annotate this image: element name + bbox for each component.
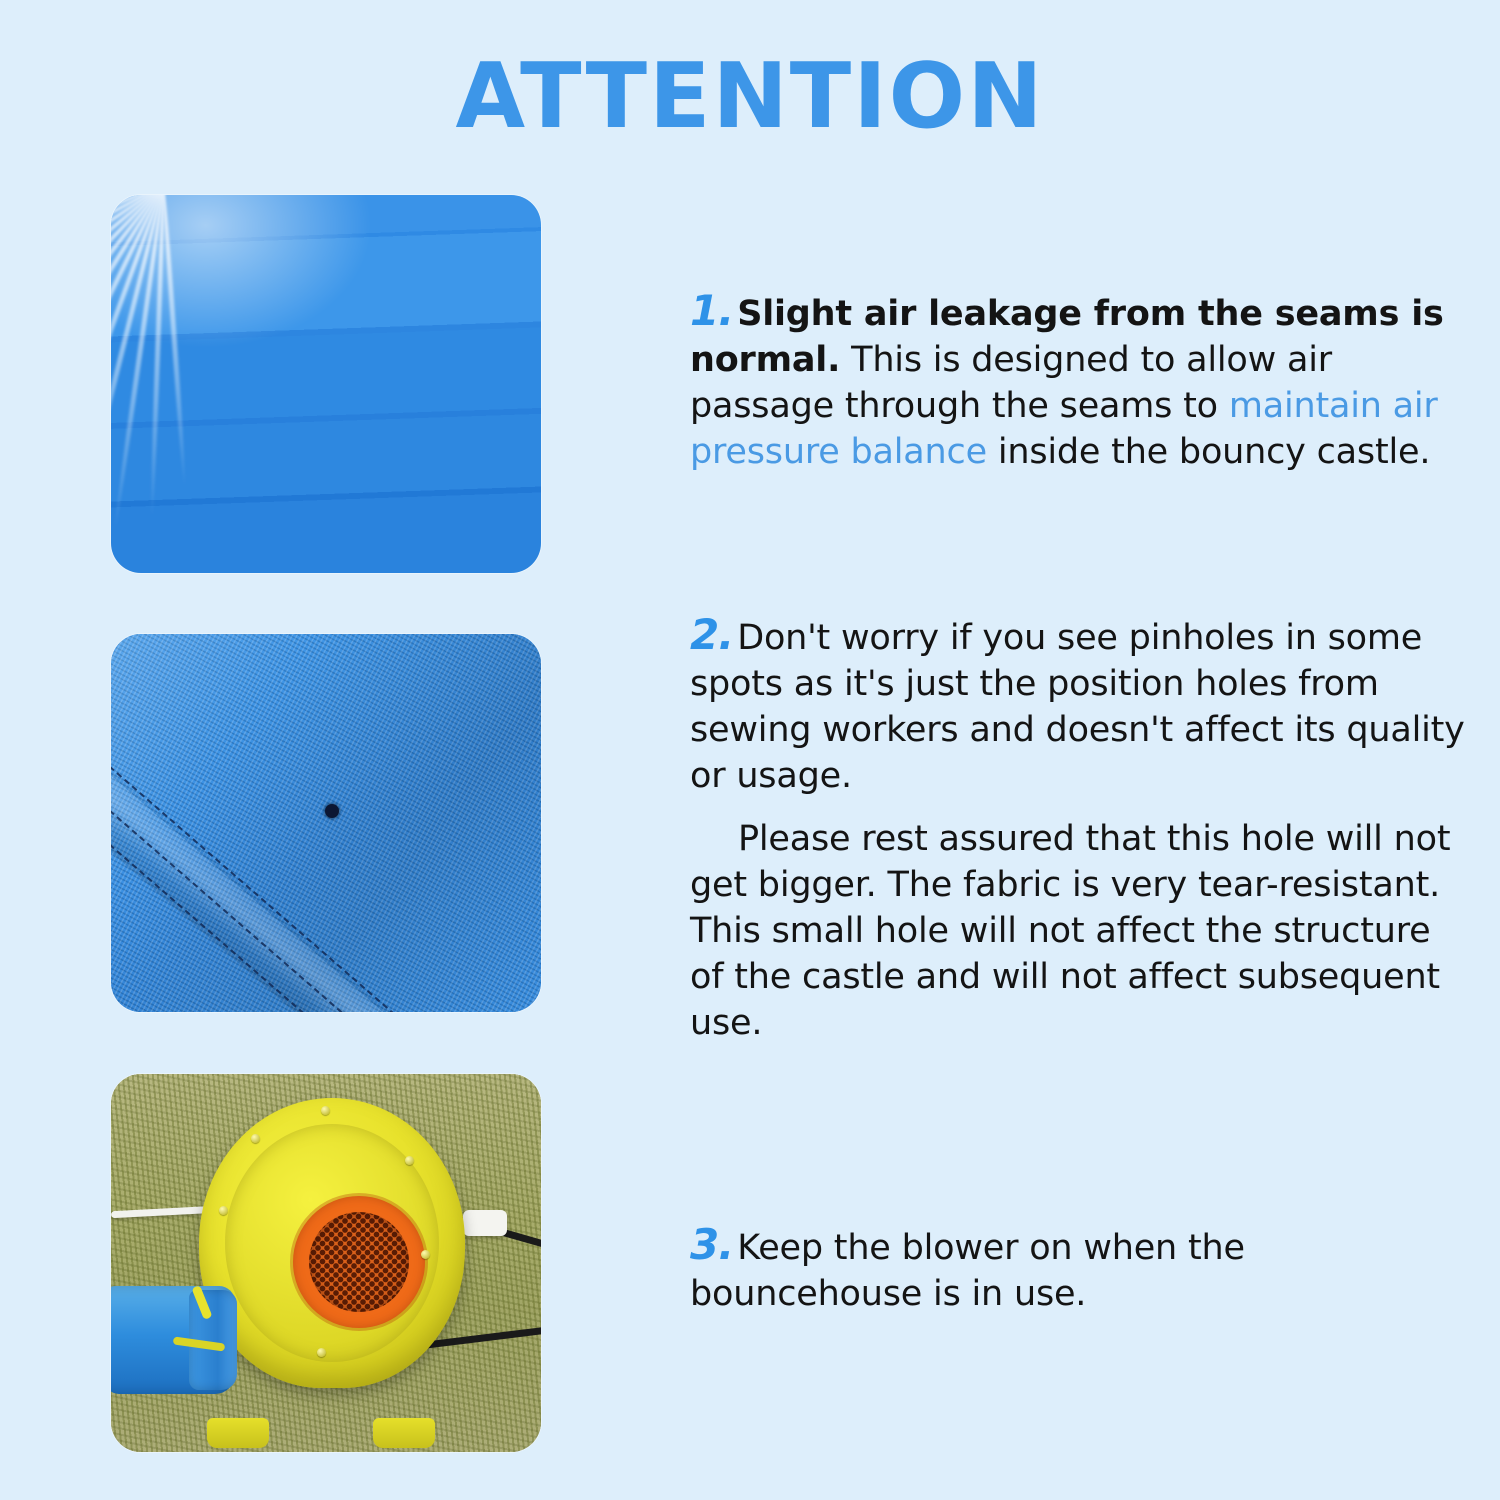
blower-mesh [309,1212,409,1312]
air-stream-fan [111,195,541,573]
blower-foot [207,1418,269,1448]
instructions-column: 1.Slight air leakage from the seams is n… [690,0,1480,1500]
blower-bolt [321,1106,330,1115]
pinhole-marker [325,804,339,818]
blower-foot [373,1418,435,1448]
note-item-1: 1.Slight air leakage from the seams is n… [690,288,1465,475]
note-number-2: 2. [690,610,737,659]
fabric-weave [111,634,541,1012]
blower-bolt [251,1134,260,1143]
note-item-3: 3.Keep the blower on when the bouncehous… [690,1222,1465,1317]
note-3-text: Keep the blower on when the bouncehouse … [690,1228,1245,1314]
power-plug [463,1210,507,1236]
note-number-3: 3. [690,1220,737,1269]
photo-air-leakage-from-seams [111,195,541,573]
blower-bolt [421,1250,430,1259]
note-item-2: 2.Don't worry if you see pinholes in som… [690,612,1465,799]
note-2-paragraph-2: Please rest assured that this hole will … [690,816,1465,1046]
blower-bolt [317,1348,326,1357]
blower-bolt [405,1156,414,1165]
note-2-text: Don't worry if you see pinholes in some … [690,618,1465,796]
blower-intake-grille [293,1196,425,1328]
note-1-text-after-accent: inside the bouncy castle. [987,432,1430,472]
blower-scene [111,1074,541,1452]
blower-housing [199,1098,465,1388]
blower-bolt [219,1206,228,1215]
photo-blower-on-grass [111,1074,541,1452]
note-number-1: 1. [690,286,737,335]
fabric-bands [111,195,541,573]
photo-pinhole-in-seam [111,634,541,1012]
